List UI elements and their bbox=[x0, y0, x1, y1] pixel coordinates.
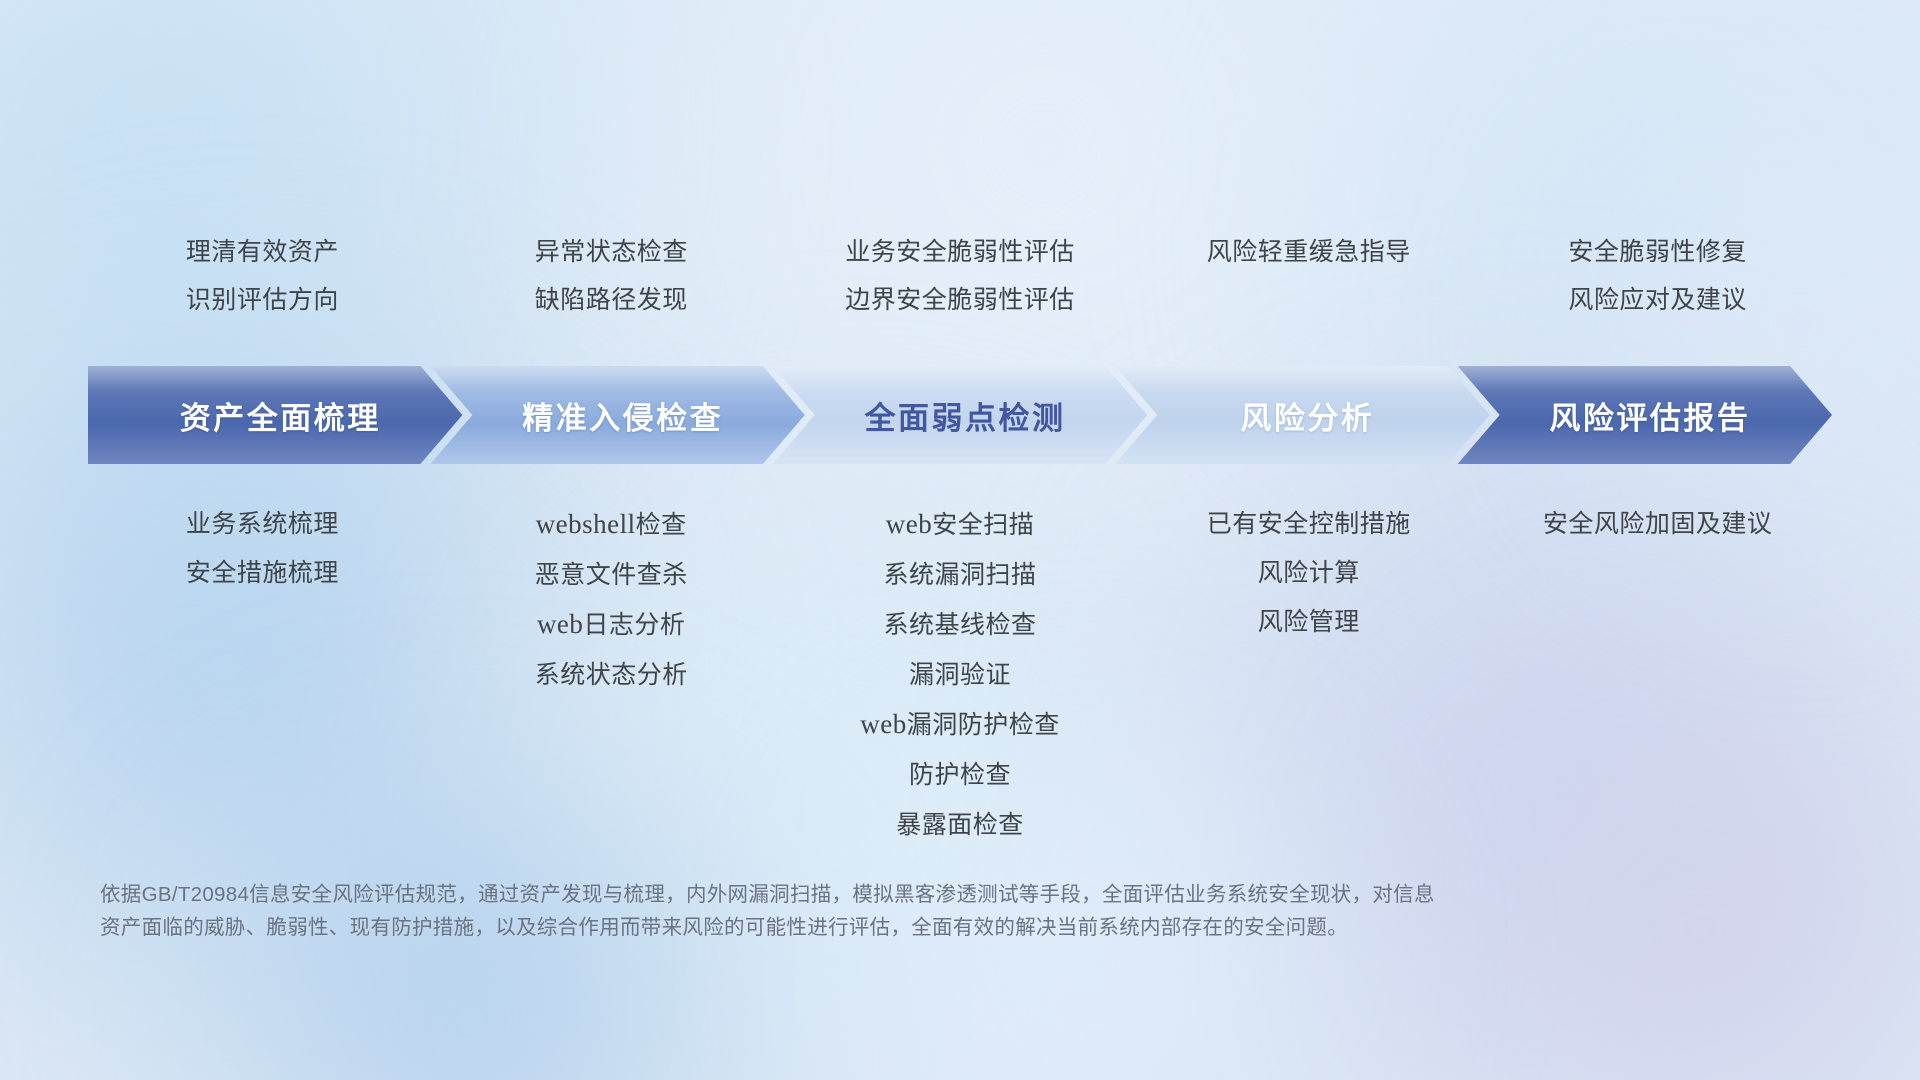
stage-5-input-2: 风险应对及建议 bbox=[1491, 276, 1824, 324]
stage-4-output-3: 风险管理 bbox=[1140, 598, 1477, 647]
stage-arrow-1-label: 资产全面梳理 bbox=[170, 393, 381, 438]
stage-4-inputs: 风险轻重缓急指导 bbox=[1134, 228, 1483, 324]
stage-3-outputs: web安全扫描 系统漏洞扫描 系统基线检查 漏洞验证 web漏洞防护检查 防护检… bbox=[786, 500, 1135, 850]
stage-3-input-1: 业务安全脆弱性评估 bbox=[794, 228, 1127, 276]
stage-arrow-4-label: 风险分析 bbox=[1230, 393, 1374, 438]
footer-description: 依据GB/T20984信息安全风险评估规范，通过资产发现与梳理，内外网漏洞扫描，… bbox=[100, 878, 1640, 944]
stage-2-inputs: 异常状态检查 缺陷路径发现 bbox=[437, 228, 786, 324]
stage-arrow-4[interactable]: 风险分析 bbox=[1115, 366, 1489, 464]
cjk-token: 安全扫描 bbox=[932, 511, 1034, 539]
stage-1-inputs: 理清有效资产 识别评估方向 bbox=[88, 228, 437, 324]
stage-4-output-1: 已有安全控制措施 bbox=[1140, 500, 1477, 549]
footer-paragraph: 依据GB/T20984信息安全风险评估规范，通过资产发现与梳理，内外网漏洞扫描，… bbox=[100, 878, 1640, 944]
cjk-token: 漏洞验证 bbox=[909, 661, 1011, 689]
stage-2-output-1: webshell检查 bbox=[443, 500, 780, 550]
stage-3-output-7: 暴露面检查 bbox=[792, 800, 1129, 850]
cjk-token: 日志分析 bbox=[583, 611, 685, 639]
stage-2-output-2: 恶意文件查杀 bbox=[443, 550, 780, 600]
cjk-token: 漏洞防护检查 bbox=[907, 711, 1060, 739]
stage-2-input-1: 异常状态检查 bbox=[445, 228, 778, 276]
latin-token: webshell bbox=[536, 509, 636, 539]
stage-3-input-2: 边界安全脆弱性评估 bbox=[794, 276, 1127, 324]
stage-arrow-5[interactable]: 风险评估报告 bbox=[1458, 366, 1832, 464]
stage-4-outputs: 已有安全控制措施 风险计算 风险管理 bbox=[1134, 500, 1483, 850]
stage-3-output-5: web漏洞防护检查 bbox=[792, 700, 1129, 750]
stage-3-output-4: 漏洞验证 bbox=[792, 650, 1129, 700]
stage-1-input-1: 理清有效资产 bbox=[96, 228, 429, 276]
stage-2-outputs: webshell检查 恶意文件查杀 web日志分析 系统状态分析 bbox=[437, 500, 786, 850]
stage-inputs-row: 理清有效资产 识别评估方向 异常状态检查 缺陷路径发现 业务安全脆弱性评估 边界… bbox=[88, 228, 1832, 324]
stage-1-outputs: 业务系统梳理 安全措施梳理 bbox=[88, 500, 437, 850]
diagram-content: 理清有效资产 识别评估方向 异常状态检查 缺陷路径发现 业务安全脆弱性评估 边界… bbox=[0, 0, 1920, 1080]
stage-5-output-1: 安全风险加固及建议 bbox=[1489, 500, 1826, 549]
stage-3-output-2: 系统漏洞扫描 bbox=[792, 550, 1129, 600]
stage-arrow-1[interactable]: 资产全面梳理 bbox=[88, 366, 462, 464]
stage-5-outputs: 安全风险加固及建议 bbox=[1483, 500, 1832, 850]
stage-1-output-2: 安全措施梳理 bbox=[94, 549, 431, 598]
cjk-token: 暴露面检查 bbox=[896, 811, 1024, 839]
stage-arrow-5-label: 风险评估报告 bbox=[1539, 393, 1750, 438]
stage-3-output-3: 系统基线检查 bbox=[792, 600, 1129, 650]
stage-3-output-6: 防护检查 bbox=[792, 750, 1129, 800]
stage-2-input-2: 缺陷路径发现 bbox=[445, 276, 778, 324]
process-arrow-band: 资产全面梳理 精准入侵检查 全面弱点检测 风险分析 风险评估报告 bbox=[88, 366, 1832, 464]
stage-3-inputs: 业务安全脆弱性评估 边界安全脆弱性评估 bbox=[786, 228, 1135, 324]
cjk-token: 系统状态分析 bbox=[535, 661, 688, 689]
stage-2-output-3: web日志分析 bbox=[443, 600, 780, 650]
stage-3-output-1: web安全扫描 bbox=[792, 500, 1129, 550]
cjk-token: 系统漏洞扫描 bbox=[883, 561, 1036, 589]
slide-canvas: 理清有效资产 识别评估方向 异常状态检查 缺陷路径发现 业务安全脆弱性评估 边界… bbox=[0, 0, 1920, 1080]
stage-arrow-3[interactable]: 全面弱点检测 bbox=[773, 366, 1147, 464]
latin-token: web bbox=[537, 609, 583, 639]
stage-5-input-1: 安全脆弱性修复 bbox=[1491, 228, 1824, 276]
cjk-token: 防护检查 bbox=[909, 761, 1011, 789]
latin-token: web bbox=[860, 709, 906, 739]
cjk-token: 系统基线检查 bbox=[883, 611, 1036, 639]
stage-arrow-2-label: 精准入侵检查 bbox=[512, 393, 723, 438]
stage-4-input-1: 风险轻重缓急指导 bbox=[1142, 228, 1475, 276]
stage-4-output-2: 风险计算 bbox=[1140, 549, 1477, 598]
stage-5-inputs: 安全脆弱性修复 风险应对及建议 bbox=[1483, 228, 1832, 324]
stage-arrow-2[interactable]: 精准入侵检查 bbox=[430, 366, 804, 464]
latin-token: web bbox=[886, 509, 932, 539]
stage-arrow-3-label: 全面弱点检测 bbox=[855, 393, 1066, 438]
stage-outputs-row: 业务系统梳理 安全措施梳理 webshell检查 恶意文件查杀 web日志分析 … bbox=[88, 500, 1832, 850]
stage-1-output-1: 业务系统梳理 bbox=[94, 500, 431, 549]
stage-2-output-4: 系统状态分析 bbox=[443, 650, 780, 700]
cjk-token: 检查 bbox=[636, 511, 687, 539]
cjk-token: 恶意文件查杀 bbox=[535, 561, 688, 589]
stage-1-input-2: 识别评估方向 bbox=[96, 276, 429, 324]
